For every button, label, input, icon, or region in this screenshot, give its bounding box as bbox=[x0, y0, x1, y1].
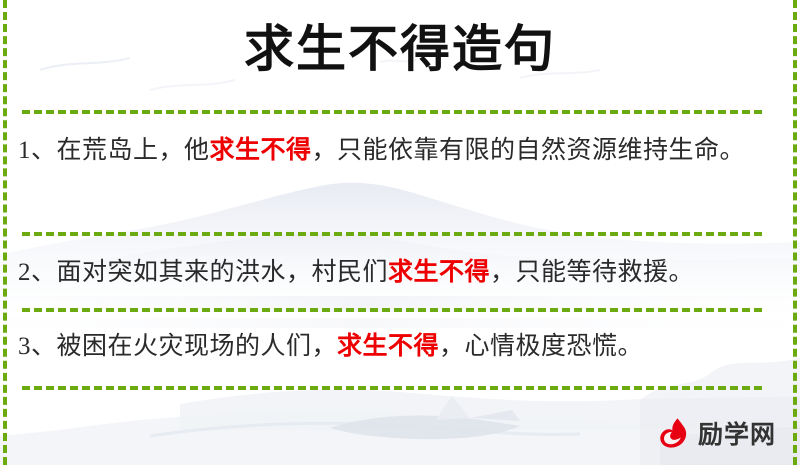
sentence-2-index: 2、 bbox=[18, 259, 57, 286]
example-sentence-2: 2、面对突如其来的洪水，村民们求生不得，只能等待救援。 bbox=[18, 252, 774, 294]
frame-right-dashed-border bbox=[793, 0, 797, 465]
sentence-1-index: 1、 bbox=[18, 137, 57, 164]
sentence-3-index: 3、 bbox=[18, 333, 57, 360]
sentence-1-before: 在荒岛上，他 bbox=[57, 137, 210, 164]
frame-left-dashed-border bbox=[3, 0, 7, 465]
divider-after-sentence-3 bbox=[22, 386, 762, 390]
divider-below-title bbox=[22, 110, 762, 114]
sentence-1-keyword: 求生不得 bbox=[210, 137, 312, 164]
divider-after-sentence-1 bbox=[22, 232, 762, 236]
worksheet-page: 求生不得造句 1、在荒岛上，他求生不得，只能依靠有限的自然资源维持生命。 2、面… bbox=[0, 0, 800, 465]
sentence-2-after: ，只能等待救援。 bbox=[490, 259, 694, 286]
sentence-3-before: 被困在火灾现场的人们， bbox=[57, 333, 338, 360]
divider-after-sentence-2 bbox=[22, 308, 762, 312]
example-sentence-1: 1、在荒岛上，他求生不得，只能依靠有限的自然资源维持生命。 bbox=[18, 130, 774, 172]
example-sentence-3: 3、被困在火灾现场的人们，求生不得，心情极度恐慌。 bbox=[18, 326, 774, 368]
site-logo[interactable]: 励学网 bbox=[655, 415, 776, 451]
sentence-3-after: ，心情极度恐慌。 bbox=[439, 333, 643, 360]
sentence-3-keyword: 求生不得 bbox=[337, 333, 439, 360]
flame-swirl-icon bbox=[655, 415, 691, 451]
sentence-1-after: ，只能依靠有限的自然资源维持生命。 bbox=[312, 137, 746, 164]
sentence-2-before: 面对突如其来的洪水，村民们 bbox=[57, 259, 389, 286]
logo-text: 励学网 bbox=[698, 415, 776, 451]
page-title: 求生不得造句 bbox=[0, 20, 800, 78]
sentence-2-keyword: 求生不得 bbox=[388, 259, 490, 286]
